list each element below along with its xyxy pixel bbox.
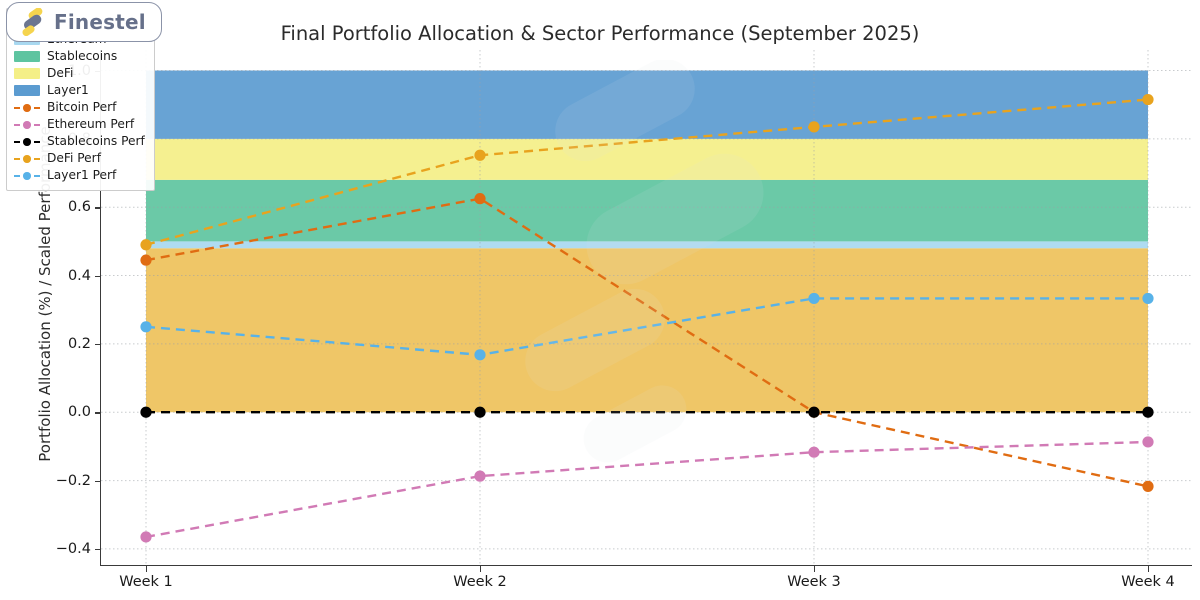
y-tick-mark [95, 344, 101, 345]
y-tick-label: 0.6 [21, 199, 91, 215]
plot-area: −0.4−0.20.00.20.40.60.81.0 Week 1Week 2W… [100, 50, 1192, 566]
y-tick-label: −0.2 [21, 473, 91, 489]
data-point [808, 407, 819, 418]
y-tick-mark [95, 276, 101, 277]
legend-label: Ethereum Perf [47, 118, 134, 130]
legend-label: DeFi [47, 67, 73, 79]
y-tick-mark [95, 481, 101, 482]
data-point [140, 531, 151, 542]
x-tick-label: Week 4 [1068, 574, 1200, 590]
y-tick-mark [95, 207, 101, 208]
legend-item-defi[interactable]: DeFi [14, 65, 145, 82]
legend-swatch-icon [14, 51, 40, 62]
data-point [1142, 481, 1153, 492]
finestel-logo-icon [19, 8, 47, 36]
legend-line-icon [14, 170, 40, 181]
data-point [474, 471, 485, 482]
data-point [140, 255, 151, 266]
series-line-ethereum-perf [146, 442, 1148, 537]
legend-swatch-icon [14, 68, 40, 79]
legend-line-icon [14, 153, 40, 164]
data-point [1142, 293, 1153, 304]
legend-item-layer1-perf[interactable]: Layer1 Perf [14, 167, 145, 184]
x-tick-label: Week 3 [734, 574, 894, 590]
area-ethereum [146, 241, 1148, 248]
brand-name: Finestel [54, 10, 146, 34]
x-tick-label: Week 1 [66, 574, 226, 590]
data-point [474, 407, 485, 418]
data-point [474, 193, 485, 204]
chart-title: Final Portfolio Allocation & Sector Perf… [0, 22, 1200, 45]
x-tick-mark [814, 566, 815, 572]
x-tick-mark [480, 566, 481, 572]
data-point [1142, 436, 1153, 447]
legend-line-icon [14, 119, 40, 130]
legend-item-layer1[interactable]: Layer1 [14, 82, 145, 99]
y-tick-label: 0.0 [21, 404, 91, 420]
legend-label: Bitcoin Perf [47, 101, 116, 113]
data-point [1142, 94, 1153, 105]
data-point [140, 321, 151, 332]
area-defi [146, 139, 1148, 180]
legend-label: DeFi Perf [47, 152, 101, 164]
y-tick-label: 0.4 [21, 268, 91, 284]
x-tick-mark [1148, 566, 1149, 572]
data-point [474, 150, 485, 161]
legend-item-bitcoin-perf[interactable]: Bitcoin Perf [14, 99, 145, 116]
legend-line-icon [14, 102, 40, 113]
y-tick-label: −0.4 [21, 541, 91, 557]
legend-label: Layer1 [47, 84, 89, 96]
data-point [808, 447, 819, 458]
y-tick-label: 0.2 [21, 336, 91, 352]
data-point [140, 239, 151, 250]
legend-item-stablecoins-perf[interactable]: Stablecoins Perf [14, 133, 145, 150]
legend-line-icon [14, 136, 40, 147]
x-tick-mark [146, 566, 147, 572]
data-point [140, 407, 151, 418]
area-layer1 [146, 71, 1148, 139]
data-point [474, 349, 485, 360]
y-tick-mark [95, 412, 101, 413]
data-point [808, 293, 819, 304]
legend-item-defi-perf[interactable]: DeFi Perf [14, 150, 145, 167]
brand-badge[interactable]: Finestel [6, 2, 162, 42]
plot-canvas [101, 50, 1193, 566]
legend-item-ethereum-perf[interactable]: Ethereum Perf [14, 116, 145, 133]
legend-label: Layer1 Perf [47, 169, 116, 181]
data-point [808, 121, 819, 132]
x-tick-label: Week 2 [400, 574, 560, 590]
y-tick-mark [95, 549, 101, 550]
chart-root: Portfolio Allocation (%) / Scaled Perfor… [0, 0, 1200, 600]
area-bitcoin [146, 248, 1148, 412]
legend-swatch-icon [14, 85, 40, 96]
legend-label: Stablecoins Perf [47, 135, 145, 147]
data-point [1142, 407, 1153, 418]
legend-label: Stablecoins [47, 50, 117, 62]
legend-item-stablecoins[interactable]: Stablecoins [14, 48, 145, 65]
